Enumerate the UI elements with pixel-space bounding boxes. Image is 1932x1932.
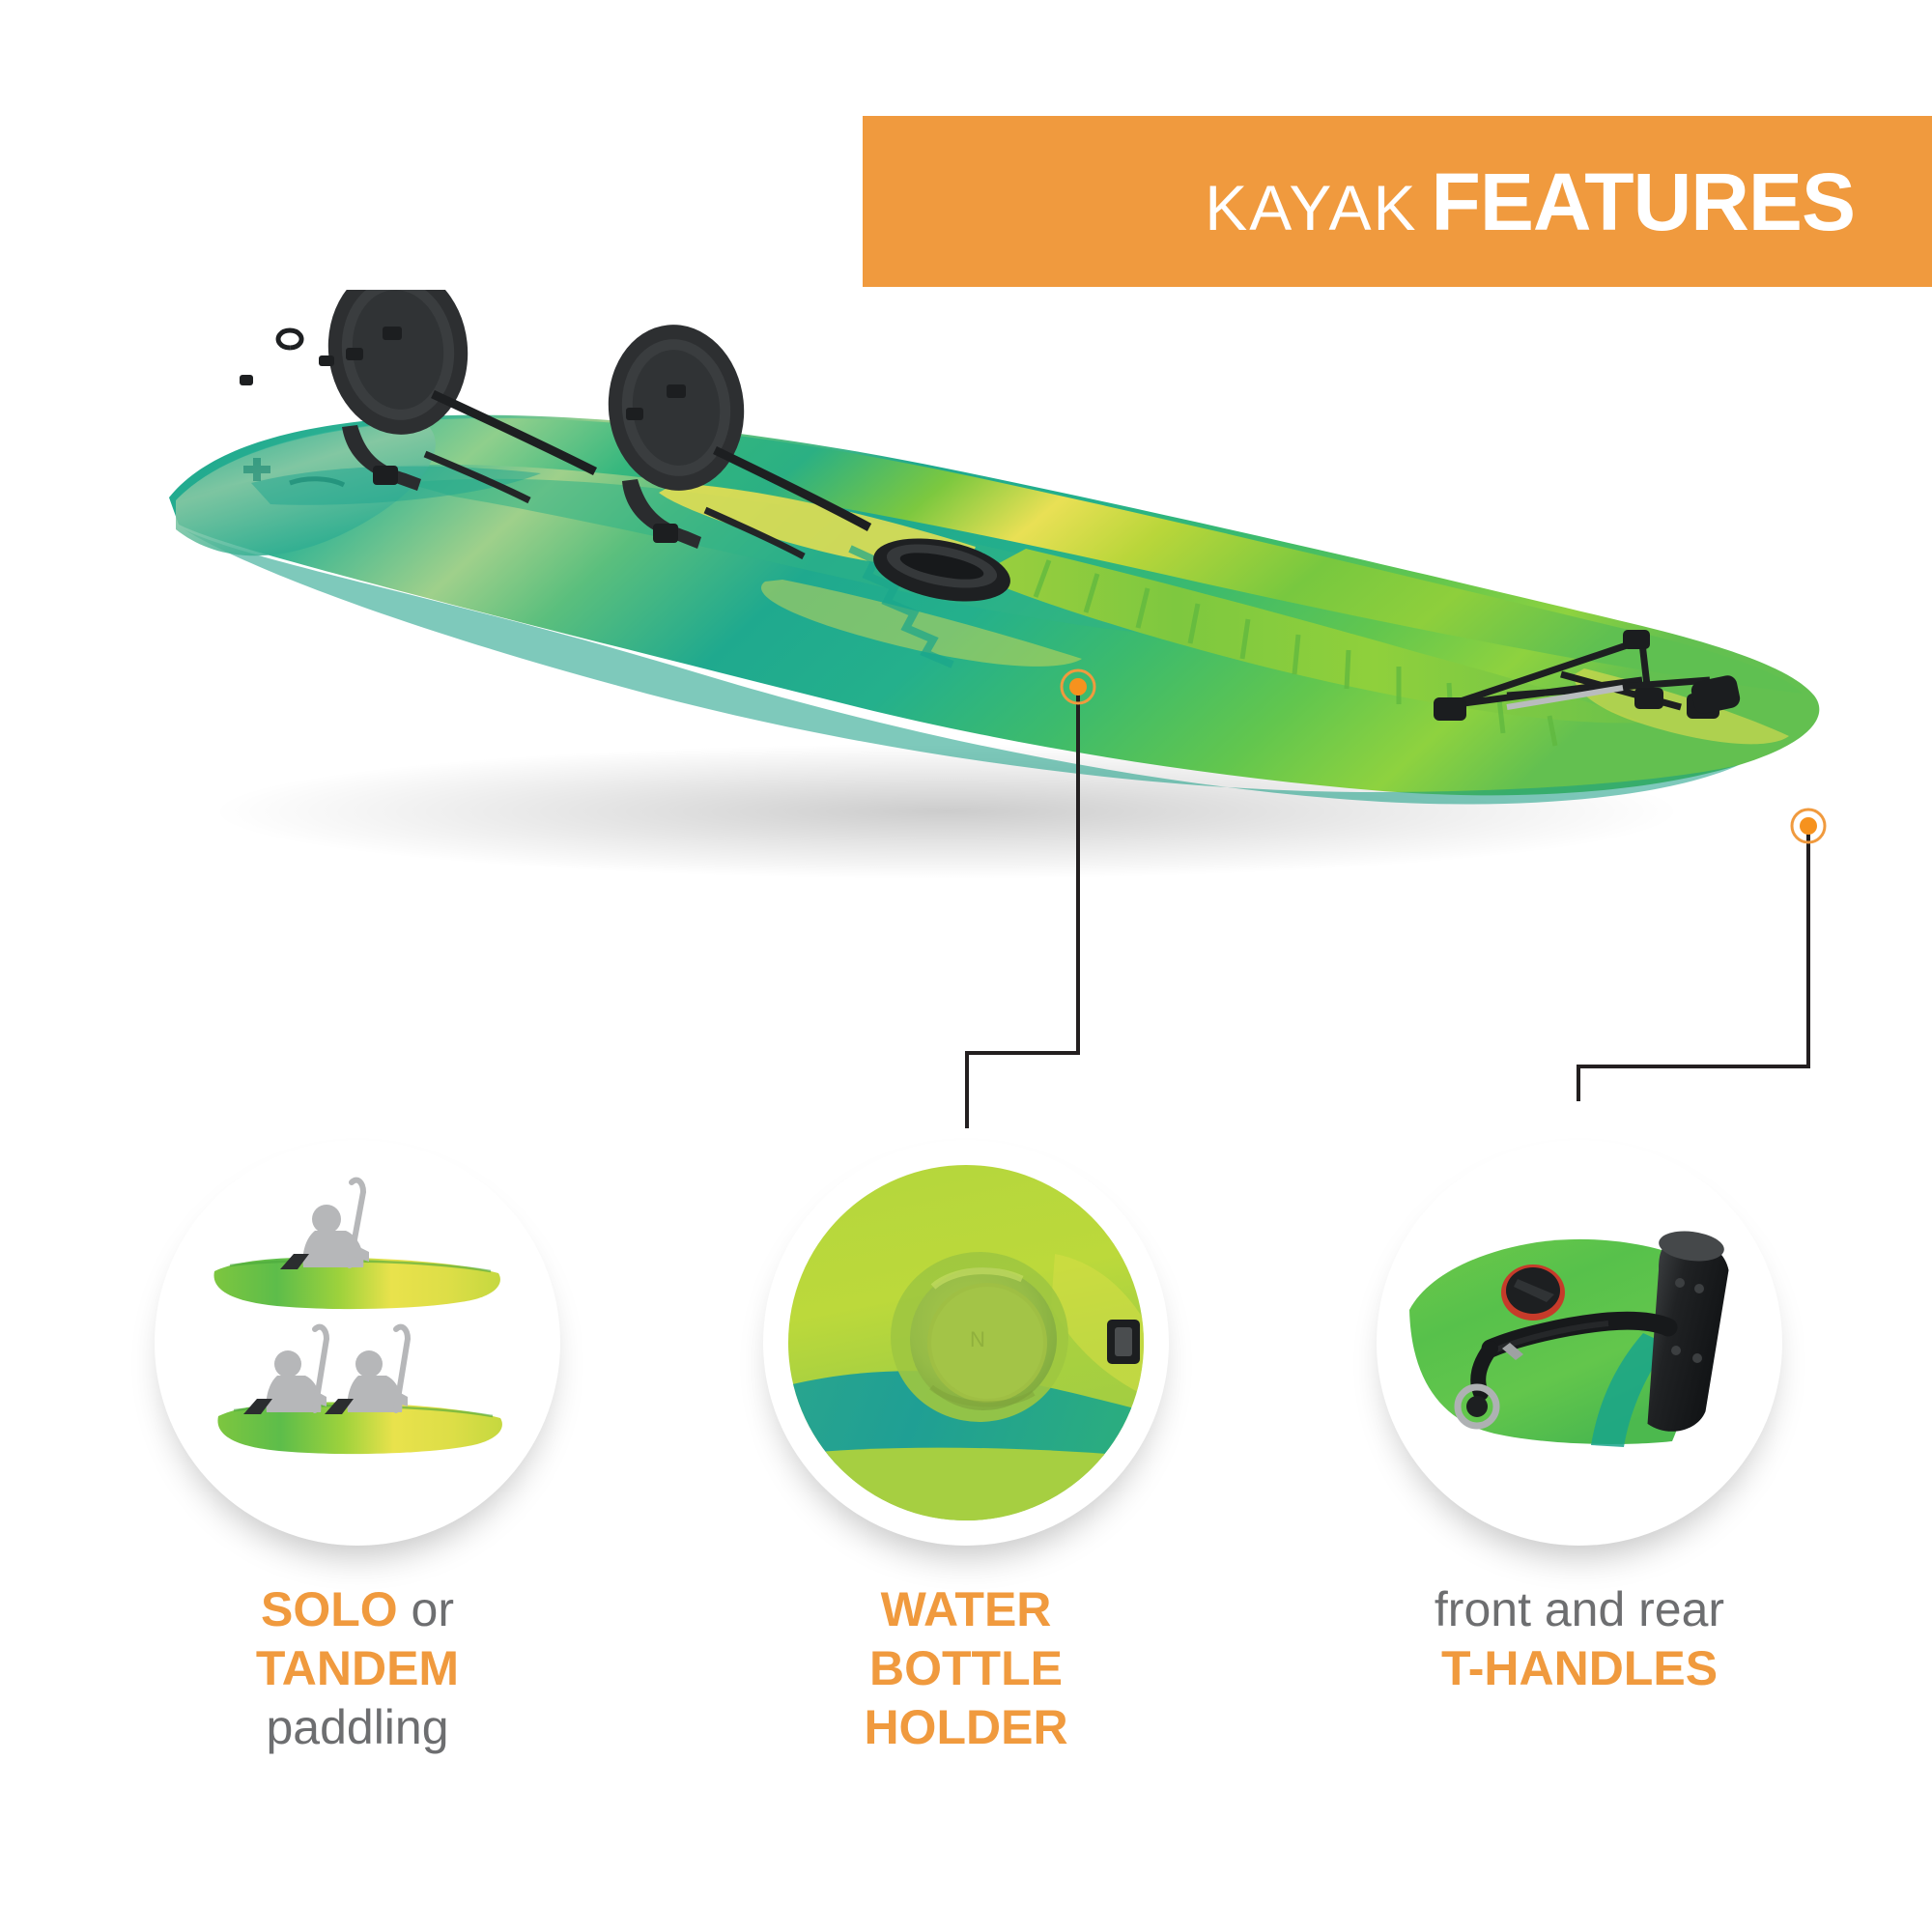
header-banner: KAYAKFEATURES (863, 116, 1932, 287)
caption-line: BOTTLE (753, 1639, 1179, 1698)
callout-caption-water-bottle-holder: WATER BOTTLE HOLDER (753, 1580, 1179, 1757)
solo-kayak (213, 1180, 499, 1309)
caption-line: HOLDER (753, 1698, 1179, 1757)
solo-tandem-silhouette-illustration (180, 1165, 535, 1520)
caption-line: WATER (753, 1580, 1179, 1639)
caption-span: T-HANDLES (1441, 1641, 1718, 1695)
callout-circle-t-handles (1377, 1140, 1782, 1546)
kayak-illustration (0, 290, 1932, 1043)
caption-span: TANDEM (256, 1641, 459, 1695)
circle-image-solo-tandem (180, 1165, 535, 1520)
caption-line: T-HANDLES (1367, 1639, 1792, 1698)
caption-span: paddling (266, 1700, 448, 1754)
circle-ring (1377, 1140, 1782, 1546)
infographic-page: KAYAKFEATURES (0, 0, 1932, 1932)
caption-span: front and rear (1435, 1582, 1724, 1636)
title-word-features: FEATURES (1432, 161, 1855, 242)
caption-span: WATER (881, 1582, 1052, 1636)
callout-circle-water-bottle-holder: N (763, 1140, 1169, 1546)
hero-kayak-image (0, 290, 1932, 1043)
circle-image-water-bottle-holder: N (788, 1165, 1144, 1520)
title-word-kayak: KAYAK (1205, 176, 1417, 240)
circle-image-t-handles (1402, 1165, 1757, 1520)
callout-caption-t-handles: front and rear T-HANDLES (1367, 1580, 1792, 1698)
caption-span: BOTTLE (869, 1641, 1063, 1695)
caption-span: or (398, 1582, 454, 1636)
callout-caption-solo-tandem: SOLO or TANDEM paddling (145, 1580, 570, 1757)
caption-line: front and rear (1367, 1580, 1792, 1639)
t-handle-closeup-illustration (1402, 1165, 1757, 1520)
cup-holder-closeup-illustration: N (788, 1165, 1144, 1520)
caption-line: TANDEM (145, 1639, 570, 1698)
drain-plug (1501, 1264, 1565, 1321)
caption-span: HOLDER (864, 1700, 1067, 1754)
page-title: KAYAKFEATURES (1205, 161, 1855, 242)
callout-circle-solo-tandem (155, 1140, 560, 1546)
svg-text:N: N (970, 1327, 985, 1351)
tandem-kayak (217, 1327, 501, 1454)
caption-line: SOLO or (145, 1580, 570, 1639)
callout-t-handles[interactable]: front and rear T-HANDLES (1367, 1140, 1792, 1698)
callout-row: SOLO or TANDEM paddling (0, 1140, 1932, 1874)
callout-solo-tandem[interactable]: SOLO or TANDEM paddling (145, 1140, 570, 1757)
circle-ring (155, 1140, 560, 1546)
callout-water-bottle-holder[interactable]: N WATER BOTTLE HOLDER (753, 1140, 1179, 1757)
kayak-bow-hardware (240, 330, 334, 385)
caption-line: paddling (145, 1698, 570, 1757)
caption-span: SOLO (261, 1582, 398, 1636)
circle-ring: N (763, 1140, 1169, 1546)
